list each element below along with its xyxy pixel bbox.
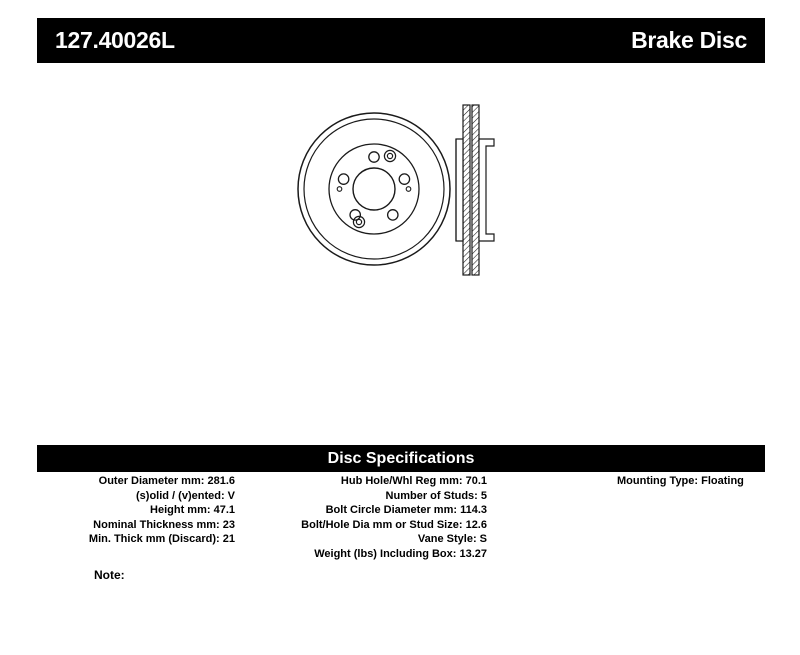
spec-row: Bolt Circle Diameter mm: 114.3 — [251, 503, 487, 518]
spec-column-hub: Hub Hole/Whl Reg mm: 70.1 Number of Stud… — [251, 474, 487, 562]
spec-row: (s)olid / (v)ented: V — [37, 489, 235, 504]
brake-disc-drawing — [280, 95, 510, 285]
rotor-front-view — [298, 113, 450, 265]
spec-row: Hub Hole/Whl Reg mm: 70.1 — [251, 474, 487, 489]
part-number: 127.40026L — [55, 29, 175, 52]
spec-row: Mounting Type: Floating — [617, 474, 755, 489]
spec-section-title: Disc Specifications — [328, 451, 475, 467]
rotor-side-section — [456, 105, 494, 275]
spec-row: Weight (lbs) Including Box: 13.27 — [251, 547, 487, 562]
pin-holes — [337, 187, 411, 192]
spec-row: Nominal Thickness mm: 23 — [37, 518, 235, 533]
header-bar: 127.40026L Brake Disc — [37, 18, 765, 63]
spec-column-mounting: Mounting Type: Floating — [507, 474, 755, 489]
spec-columns: Outer Diameter mm: 281.6 (s)olid / (v)en… — [37, 474, 765, 574]
spec-section-bar: Disc Specifications — [37, 445, 765, 472]
spec-row: Vane Style: S — [251, 532, 487, 547]
spec-column-dimensions: Outer Diameter mm: 281.6 (s)olid / (v)en… — [37, 474, 235, 547]
note-label: Note: — [94, 568, 125, 582]
spec-row: Number of Studs: 5 — [251, 489, 487, 504]
spec-row: Min. Thick mm (Discard): 21 — [37, 532, 235, 547]
spec-row: Outer Diameter mm: 281.6 — [37, 474, 235, 489]
product-type-label: Brake Disc — [631, 29, 747, 52]
spec-row: Height mm: 47.1 — [37, 503, 235, 518]
spec-sheet: 127.40026L Brake Disc — [0, 0, 800, 655]
spec-row: Bolt/Hole Dia mm or Stud Size: 12.6 — [251, 518, 487, 533]
